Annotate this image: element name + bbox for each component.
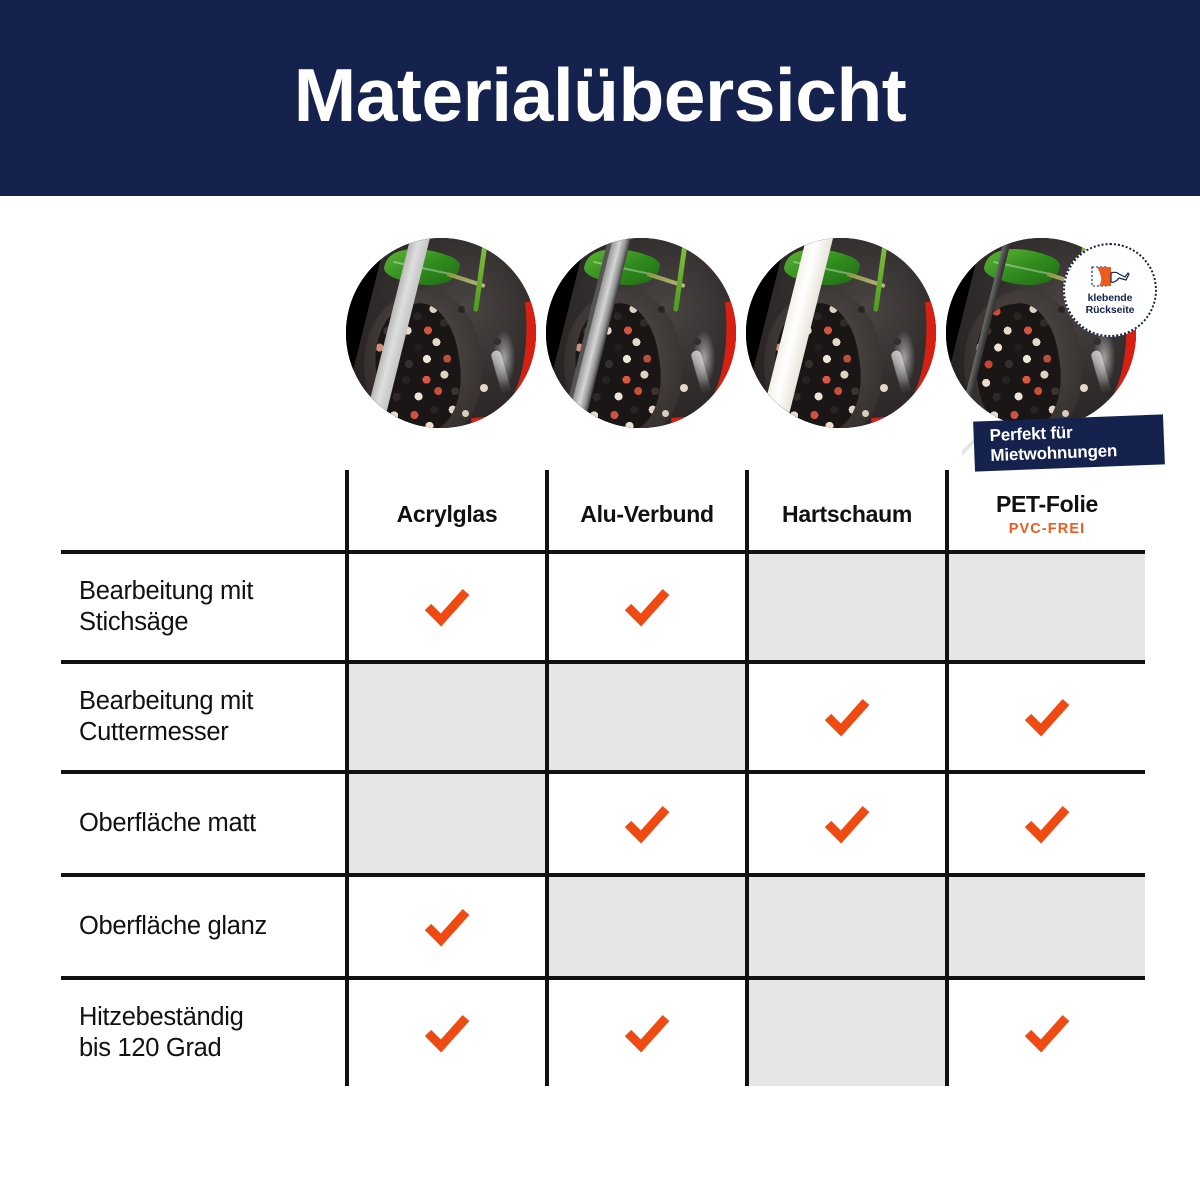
checkmark-icon xyxy=(1023,804,1071,844)
ribbon-body: Perfekt für Mietwohnungen xyxy=(973,414,1165,471)
cell-glanz-acrylglas xyxy=(345,877,545,976)
cell-glanz-alu-verbund xyxy=(545,877,745,976)
column-title: PET-Folie xyxy=(996,491,1098,518)
row-label-oberflaeche-glanz: Oberfläche glanz xyxy=(61,877,345,976)
cell-hitze-hartschaum xyxy=(745,980,945,1086)
column-subtitle-pvc-free: PVC-FREI xyxy=(1009,521,1085,537)
sticky-badge-line2: Rückseite xyxy=(1086,305,1135,317)
checkmark-icon xyxy=(423,907,471,947)
cell-stichsaege-alu-verbund xyxy=(545,554,745,660)
material-thumbnail-row xyxy=(345,238,1145,434)
row-label-line1: Bearbeitung mit xyxy=(79,687,253,715)
rental-suitable-ribbon: Perfekt für Mietwohnungen xyxy=(962,410,1162,474)
thumbnail-hartschaum[interactable] xyxy=(746,238,936,428)
cell-stichsaege-pet-folie xyxy=(945,554,1145,660)
cell-stichsaege-acrylglas xyxy=(345,554,545,660)
page-header: Materialübersicht xyxy=(0,0,1200,196)
cell-hitze-acrylglas xyxy=(345,980,545,1086)
checkmark-icon xyxy=(423,587,471,627)
cell-cuttermesser-acrylglas xyxy=(345,664,545,770)
thumbnail-alu-verbund[interactable] xyxy=(546,238,736,428)
row-label-line2: bis 120 Grad xyxy=(79,1034,221,1062)
page-title: Materialübersicht xyxy=(294,58,907,139)
cell-matt-hartschaum xyxy=(745,774,945,873)
column-title: Hartschaum xyxy=(782,501,912,528)
material-edge-alu-verbund xyxy=(546,238,736,428)
thumbnail-acrylglas[interactable] xyxy=(346,238,536,428)
material-comparison-table: Acrylglas Alu-Verbund Hartschaum PET-Fol… xyxy=(61,470,1145,1086)
column-header-alu-verbund: Alu-Verbund xyxy=(545,470,745,550)
table-row: Bearbeitung mit Stichsäge xyxy=(61,550,1145,660)
cell-stichsaege-hartschaum xyxy=(745,554,945,660)
cell-cuttermesser-alu-verbund xyxy=(545,664,745,770)
checkmark-icon xyxy=(1023,1013,1071,1053)
checkmark-icon xyxy=(623,587,671,627)
row-label-line2: Cuttermesser xyxy=(79,718,228,746)
row-label-stichsaege: Bearbeitung mit Stichsäge xyxy=(61,554,345,660)
row-label-hitzebestaendig: Hitzebeständig bis 120 Grad xyxy=(61,980,345,1086)
row-label-cuttermesser: Bearbeitung mit Cuttermesser xyxy=(61,664,345,770)
checkmark-icon xyxy=(823,804,871,844)
column-header-acrylglas: Acrylglas xyxy=(345,470,545,550)
table-body: Bearbeitung mit Stichsäge Bearbeitung mi… xyxy=(61,550,1145,1086)
row-label-line1: Oberfläche glanz xyxy=(79,912,267,940)
column-title: Acrylglas xyxy=(397,501,498,528)
cell-matt-pet-folie xyxy=(945,774,1145,873)
cell-glanz-hartschaum xyxy=(745,877,945,976)
cell-matt-alu-verbund xyxy=(545,774,745,873)
checkmark-icon xyxy=(1023,697,1071,737)
header-spacer-cell xyxy=(61,470,345,550)
cell-glanz-pet-folie xyxy=(945,877,1145,976)
cell-hitze-pet-folie xyxy=(945,980,1145,1086)
column-title: Alu-Verbund xyxy=(580,501,713,528)
table-row: Hitzebeständig bis 120 Grad xyxy=(61,976,1145,1086)
row-label-line1: Hitzebeständig xyxy=(79,1003,244,1031)
material-edge-acrylglas xyxy=(346,238,536,428)
material-edge-hartschaum xyxy=(746,238,936,428)
row-label-line1: Bearbeitung mit xyxy=(79,577,253,605)
checkmark-icon xyxy=(623,1013,671,1053)
checkmark-icon xyxy=(623,804,671,844)
cell-matt-acrylglas xyxy=(345,774,545,873)
peel-sticker-hand-icon xyxy=(1090,264,1130,292)
checkmark-icon xyxy=(823,697,871,737)
checkmark-icon xyxy=(423,1013,471,1053)
row-label-line2: Stichsäge xyxy=(79,608,188,636)
row-label-oberflaeche-matt: Oberfläche matt xyxy=(61,774,345,873)
cell-cuttermesser-hartschaum xyxy=(745,664,945,770)
column-header-hartschaum: Hartschaum xyxy=(745,470,945,550)
table-row: Oberfläche glanz xyxy=(61,873,1145,976)
column-header-pet-folie: PET-Folie PVC-FREI xyxy=(945,470,1145,550)
table-header-row: Acrylglas Alu-Verbund Hartschaum PET-Fol… xyxy=(61,470,1145,550)
table-row: Oberfläche matt xyxy=(61,770,1145,873)
row-label-line1: Oberfläche matt xyxy=(79,809,256,837)
sticky-back-badge: klebende Rückseite xyxy=(1063,243,1157,337)
cell-cuttermesser-pet-folie xyxy=(945,664,1145,770)
table-row: Bearbeitung mit Cuttermesser xyxy=(61,660,1145,770)
cell-hitze-alu-verbund xyxy=(545,980,745,1086)
sticky-badge-line1: klebende xyxy=(1088,293,1133,305)
